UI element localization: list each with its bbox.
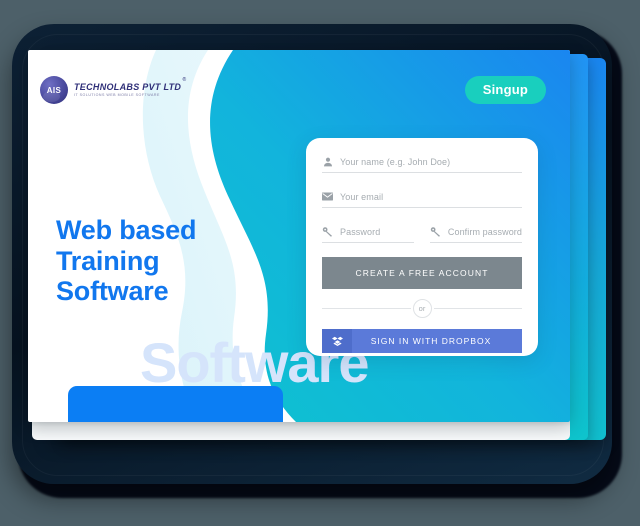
signup-form-panel: Your name (e.g. John Doe) Your email xyxy=(306,138,538,356)
password-field[interactable]: Password xyxy=(322,222,414,243)
dropbox-signin-button[interactable]: SIGN IN WITH DROPBOX xyxy=(322,329,522,353)
headline-line-3: Software xyxy=(56,276,196,307)
key-icon xyxy=(322,226,333,237)
dropbox-icon xyxy=(322,329,352,353)
email-field-placeholder: Your email xyxy=(340,192,383,202)
headline-line-2: Training xyxy=(56,246,196,277)
brand-logo[interactable]: AIS TECHNOLABS PVT LTD IT SOLUTIONS WEB … xyxy=(40,76,181,104)
dropbox-signin-label: SIGN IN WITH DROPBOX xyxy=(352,336,522,346)
email-field[interactable]: Your email xyxy=(322,187,522,208)
confirm-password-field-placeholder: Confirm password xyxy=(448,227,522,237)
confirm-password-field[interactable]: Confirm password xyxy=(430,222,522,243)
website-mockup-card: AIS TECHNOLABS PVT LTD IT SOLUTIONS WEB … xyxy=(28,50,570,422)
primary-cta-block[interactable] xyxy=(68,386,283,422)
signup-button[interactable]: Singup xyxy=(465,76,546,104)
name-field-placeholder: Your name (e.g. John Doe) xyxy=(340,157,450,167)
envelope-icon xyxy=(322,191,333,202)
create-account-button[interactable]: CREATE A FREE ACCOUNT xyxy=(322,257,522,289)
user-icon xyxy=(322,156,333,167)
divider-line-left xyxy=(322,308,411,309)
logo-company-name: TECHNOLABS PVT LTD xyxy=(74,83,181,92)
divider-line-right xyxy=(434,308,523,309)
divider-label: or xyxy=(413,299,432,318)
logo-tagline: IT SOLUTIONS WEB MOBILE SOFTWARE xyxy=(74,94,181,98)
registered-mark-icon: ® xyxy=(183,78,187,83)
headline-line-1: Web based xyxy=(56,215,196,246)
logo-wordmark: TECHNOLABS PVT LTD IT SOLUTIONS WEB MOBI… xyxy=(74,83,181,98)
logo-mark-icon: AIS xyxy=(40,76,68,104)
logo-initials: AIS xyxy=(47,86,62,95)
key-icon xyxy=(430,226,441,237)
password-field-row: Password Confirm password xyxy=(322,222,522,243)
or-divider: or xyxy=(322,299,522,318)
page-title: Web based Training Software xyxy=(56,215,196,307)
password-field-placeholder: Password xyxy=(340,227,380,237)
mockup-stage: AIS TECHNOLABS PVT LTD IT SOLUTIONS WEB … xyxy=(0,0,640,526)
name-field[interactable]: Your name (e.g. John Doe) xyxy=(322,152,522,173)
